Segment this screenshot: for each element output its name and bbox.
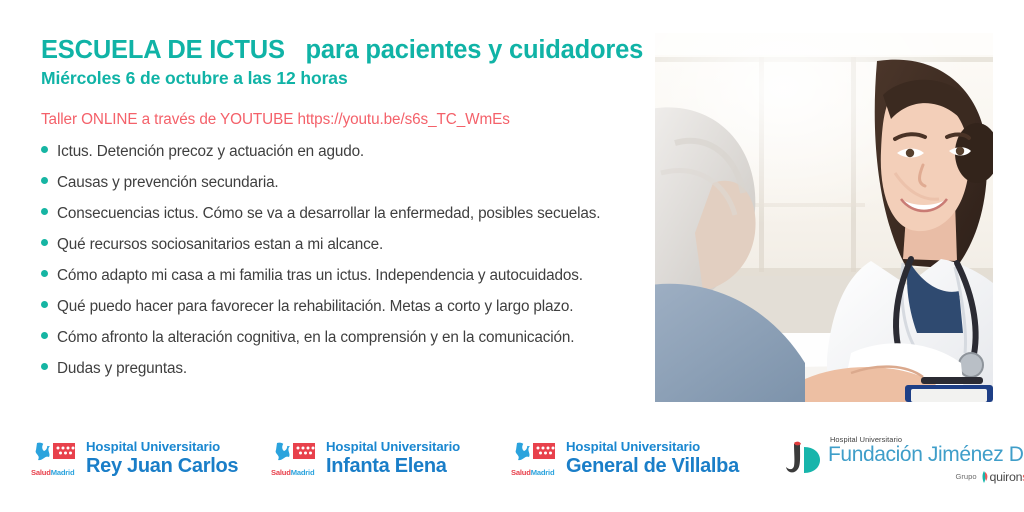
logo-hospital-infanta-elena: SaludMadrid Hospital Universitario Infan… xyxy=(271,439,460,477)
logo-text-block: Hospital Universitario Infanta Elena xyxy=(326,440,460,475)
salud-word: Salud xyxy=(511,468,531,477)
list-item: Causas y prevención secundaria. xyxy=(41,174,656,192)
madrid-word: Madrid xyxy=(531,468,555,477)
saludmadrid-wordmark: SaludMadrid xyxy=(271,468,314,477)
logo-line-bottom: Infanta Elena xyxy=(326,456,460,476)
quironsalud-leaf-icon xyxy=(980,471,989,483)
list-item-label: Ictus. Detención precoz y actuación en a… xyxy=(57,143,364,161)
madrid-word: Madrid xyxy=(291,468,315,477)
bullet-dot-icon xyxy=(41,177,48,184)
fjd-line-main: Fundación Jiménez Díaz xyxy=(828,444,1024,467)
title-rest: para pacientes y cuidadores xyxy=(305,36,643,64)
saludmadrid-wordmark: SaludMadrid xyxy=(511,468,554,477)
bullet-dot-icon xyxy=(41,301,48,308)
saludmadrid-emblem-icon: SaludMadrid xyxy=(31,439,79,477)
list-item-label: Cómo afronto la alteración cognitiva, en… xyxy=(57,329,574,347)
list-item-label: Dudas y preguntas. xyxy=(57,360,187,378)
madrid-word: Madrid xyxy=(51,468,75,477)
logo-line-top: Hospital Universitario xyxy=(566,440,739,453)
bullet-dot-icon xyxy=(41,363,48,370)
logo-bar: SaludMadrid Hospital Universitario Rey J… xyxy=(0,425,1024,500)
topics-list: Ictus. Detención precoz y actuación en a… xyxy=(41,143,656,378)
logo-line-bottom: General de Villalba xyxy=(566,456,739,476)
saludmadrid-emblem-icon: SaludMadrid xyxy=(271,439,319,477)
list-item: Consecuencias ictus. Cómo se va a desarr… xyxy=(41,205,656,223)
bullet-dot-icon xyxy=(41,270,48,277)
fjd-emblem-icon xyxy=(782,439,824,481)
list-item: Cómo adapto mi casa a mi familia tras un… xyxy=(41,267,656,285)
list-item: Dudas y preguntas. xyxy=(41,360,656,378)
logo-hospital-general-de-villalba: SaludMadrid Hospital Universitario Gener… xyxy=(511,439,739,477)
list-item-label: Qué puedo hacer para favorecer la rehabi… xyxy=(57,298,573,316)
fjd-text-block: Hospital Universitario Fundación Jiménez… xyxy=(828,435,1024,484)
quironsalud-group-mark: Grupo quironsalud xyxy=(828,470,1024,484)
bullet-dot-icon xyxy=(41,332,48,339)
title-strong: ESCUELA DE ICTUS xyxy=(41,36,285,64)
salud-word: Salud xyxy=(271,468,291,477)
list-item-label: Cómo adapto mi casa a mi familia tras un… xyxy=(57,267,583,285)
photo-illustration xyxy=(655,33,993,402)
list-item: Qué puedo hacer para favorecer la rehabi… xyxy=(41,298,656,316)
poster-content: ESCUELA DE ICTUS para pacientes y cuidad… xyxy=(41,36,656,394)
logo-text-block: Hospital Universitario Rey Juan Carlos xyxy=(86,440,238,475)
logo-line-top: Hospital Universitario xyxy=(86,440,238,453)
online-link-line[interactable]: Taller ONLINE a través de YOUTUBE https:… xyxy=(41,111,656,129)
bullet-dot-icon xyxy=(41,239,48,246)
logo-text-block: Hospital Universitario General de Villal… xyxy=(566,440,739,475)
logo-line-bottom: Rey Juan Carlos xyxy=(86,456,238,476)
grupo-label: Grupo xyxy=(955,472,976,481)
list-item: Ictus. Detención precoz y actuación en a… xyxy=(41,143,656,161)
list-item: Qué recursos sociosanitarios estan a mi … xyxy=(41,236,656,254)
logo-fundacion-jimenez-diaz: Hospital Universitario Fundación Jiménez… xyxy=(782,435,1024,484)
list-item: Cómo afronto la alteración cognitiva, en… xyxy=(41,329,656,347)
quiron-word: quiron xyxy=(990,470,1023,484)
saludmadrid-emblem-icon: SaludMadrid xyxy=(511,439,559,477)
bullet-dot-icon xyxy=(41,208,48,215)
list-item-label: Causas y prevención secundaria. xyxy=(57,174,279,192)
salud-word: Salud xyxy=(31,468,51,477)
doctor-patient-photo xyxy=(655,33,993,402)
list-item-label: Consecuencias ictus. Cómo se va a desarr… xyxy=(57,205,600,223)
list-item-label: Qué recursos sociosanitarios estan a mi … xyxy=(57,236,383,254)
poster-canvas: ESCUELA DE ICTUS para pacientes y cuidad… xyxy=(0,0,1024,512)
saludmadrid-wordmark: SaludMadrid xyxy=(31,468,74,477)
logo-line-top: Hospital Universitario xyxy=(326,440,460,453)
bullet-dot-icon xyxy=(41,146,48,153)
event-date-subtitle: Miércoles 6 de octubre a las 12 horas xyxy=(41,68,656,88)
logo-hospital-rey-juan-carlos: SaludMadrid Hospital Universitario Rey J… xyxy=(31,439,238,477)
page-title: ESCUELA DE ICTUS para pacientes y cuidad… xyxy=(41,36,656,65)
